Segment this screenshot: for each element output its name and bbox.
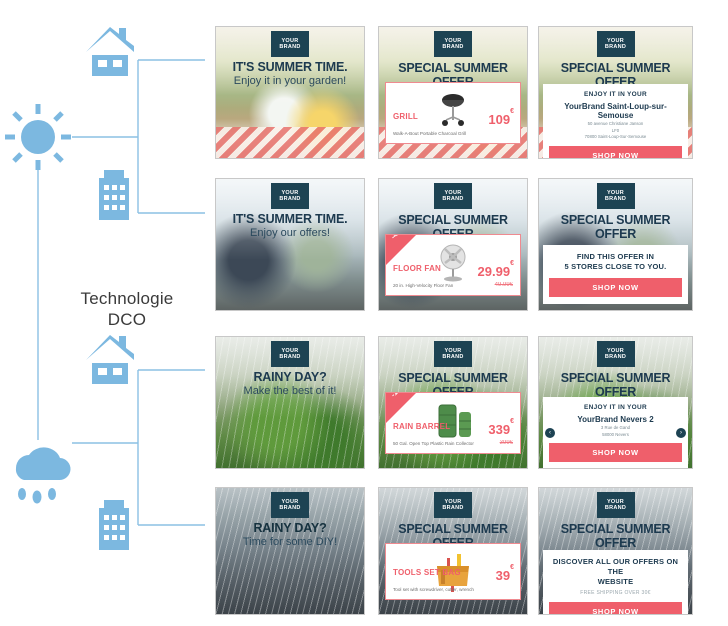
headline-line1: IT'S SUMMER TIME. [216,212,364,226]
brand-logo: YOURBRAND [434,183,472,209]
banner-grid: YOURBRAND IT'S SUMMER TIME. Enjoy it in … [215,0,728,626]
website-line2: WEBSITE [549,577,682,587]
headline-line2: Enjoy our offers! [216,227,364,239]
product-name: FLOOR FAN [393,264,441,273]
currency-symbol: € [510,108,514,115]
carousel-next-icon[interactable]: › [676,428,686,438]
product-name: TOOLS SET BAG [393,568,461,577]
brand-logo: YOURBRAND [597,31,635,57]
headline-line2: Enjoy it in your garden! [216,75,364,87]
store-kicker: ENJOY IT IN YOUR [549,91,682,98]
product-card[interactable]: -40% FLOOR FAN 20 in. High-Velocity Floo… [385,234,521,296]
dco-label-line2: DCO [62,309,192,330]
banner-headline: RAINY DAY? Time for some DIY! [216,521,364,548]
headline-line1: RAINY DAY? [216,521,364,535]
stores-count-card: FIND THIS OFFER IN 5 STORES CLOSE TO YOU… [543,245,688,304]
banner-rainy-diy[interactable]: YOURBRAND RAINY DAY? Time for some DIY! [215,487,365,615]
stores-line2: 5 STORES CLOSE TO YOU. [549,262,682,272]
stores-line1: FIND THIS OFFER IN [549,252,682,262]
building-icon-sunny [99,170,129,220]
shop-now-button[interactable]: SHOP NOW [549,146,682,159]
brand-logo: YOURBRAND [434,341,472,367]
floor-fan-product-image [427,241,479,285]
store-name: YourBrand Nevers 2 [549,415,682,424]
house-icon-rainy [86,335,134,384]
product-price: 29.99€ [478,264,514,279]
building-icon-rainy [99,500,129,550]
banner-headline: RAINY DAY? Make the best of it! [216,370,364,397]
product-old-price: 49.99€ [495,282,513,288]
store-info-card: ‹ › ENJOY IT IN YOUR YourBrand Nevers 2 … [543,397,688,469]
website-line1: DISCOVER ALL OUR OFFERS ON THE [549,557,682,577]
shop-now-button[interactable]: SHOP NOW [549,443,682,462]
headline-line2: Make the best of it! [216,385,364,397]
banner-website-offers[interactable]: YOURBRAND SPECIAL SUMMER OFFER DISCOVER … [538,487,693,615]
rain-barrel-product-image [427,399,479,443]
store-kicker: ENJOY IT IN YOUR [549,404,682,411]
shop-now-button[interactable]: SHOP NOW [549,602,682,615]
banner-offer-tools-set-bag[interactable]: YOURBRAND SPECIAL SUMMER OFFER TOOLS SET… [378,487,528,615]
banner-stores-nearby[interactable]: YOURBRAND SPECIAL SUMMER OFFER FIND THIS… [538,178,693,311]
product-price: 339€ [488,422,514,437]
banner-row-rainy-house: YOURBRAND RAINY DAY? Make the best of it… [215,336,728,471]
house-icon-sunny [86,27,134,76]
brand-logo: YOURBRAND [597,492,635,518]
store-info-card: ENJOY IT IN YOUR YourBrand Saint-Loup-su… [543,84,688,159]
offer-title: SPECIAL SUMMER OFFER [539,522,692,550]
dco-diagram-page: Technologie DCO YOURBRAND IT'S SUMMER TI… [0,0,728,626]
store-address-line1: 3 Rue de Gand [549,425,682,431]
dco-label-line1: Technologie [62,288,192,309]
sun-icon [5,104,71,170]
brand-logo: YOURBRAND [434,492,472,518]
product-description: Tool set with screwdriver, cutter, wrenc… [393,587,485,593]
banner-offer-grill[interactable]: YOURBRAND SPECIAL SUMMER OFFER GRILL Wal… [378,26,528,159]
banner-store-nevers[interactable]: YOURBRAND SPECIAL SUMMER OFFER ‹ › ENJOY… [538,336,693,469]
headline-line2: Time for some DIY! [216,536,364,548]
product-name: RAIN BARREL [393,422,450,431]
brand-logo: YOURBRAND [271,183,309,209]
product-description: 50 Gal. Open Top Plastic Rain Collector [393,441,485,447]
dco-technology-label: Technologie DCO [62,288,192,331]
banner-row-sunny-building: YOURBRAND IT'S SUMMER TIME. Enjoy our of… [215,178,728,313]
shop-now-button[interactable]: SHOP NOW [549,278,682,297]
brand-logo: YOURBRAND [271,341,309,367]
store-address-line2: LF0 [549,128,682,134]
currency-symbol: € [510,418,514,425]
currency-symbol: € [510,564,514,571]
banner-offer-rain-barrel[interactable]: YOURBRAND SPECIAL SUMMER OFFER -15% [378,336,528,469]
website-promo-card: DISCOVER ALL OUR OFFERS ON THE WEBSITE F… [543,550,688,615]
brand-logo: YOURBRAND [271,492,309,518]
product-name: GRILL [393,112,418,121]
banner-headline: IT'S SUMMER TIME. Enjoy our offers! [216,212,364,239]
banner-headline: IT'S SUMMER TIME. Enjoy it in your garde… [216,60,364,87]
currency-symbol: € [510,260,514,267]
banner-summer-garden[interactable]: YOURBRAND IT'S SUMMER TIME. Enjoy it in … [215,26,365,159]
brand-logo: YOURBRAND [597,341,635,367]
product-price: 39€ [496,568,514,583]
product-card[interactable]: GRILL Walk-A-Bout Portable Charcoal Gril… [385,82,521,144]
store-address-line1: 50 avenue Christiane Janson [549,121,682,127]
product-description: 20 in. High-Velocity Floor Fan [393,283,485,289]
banner-row-sunny-house: YOURBRAND IT'S SUMMER TIME. Enjoy it in … [215,26,728,161]
rain-cloud-icon [16,447,71,503]
brand-logo: YOURBRAND [271,31,309,57]
store-address-line2: 58000 Nevers [549,432,682,438]
store-name: YourBrand Saint-Loup-sur-Semouse [549,102,682,120]
banner-offer-floor-fan[interactable]: YOURBRAND SPECIAL SUMMER OFFER -40% FLOO… [378,178,528,311]
offer-title: SPECIAL SUMMER OFFER [539,371,692,399]
headline-line1: IT'S SUMMER TIME. [216,60,364,74]
product-card[interactable]: -15% RAIN BARREL 50 Gal. Open Top Plasti… [385,392,521,454]
product-card[interactable]: TOOLS SET BAG Tool set with screwdriver,… [385,543,521,600]
free-shipping-note: FREE SHIPPING OVER 30€ [549,590,682,596]
headline-line1: RAINY DAY? [216,370,364,384]
product-old-price: 399€ [500,440,513,446]
product-description: Walk-A-Bout Portable Charcoal Grill [393,131,485,137]
product-price: 109€ [488,112,514,127]
banner-rainy-garden[interactable]: YOURBRAND RAINY DAY? Make the best of it… [215,336,365,469]
banner-store-saint-loup[interactable]: YOURBRAND SPECIAL SUMMER OFFER ENJOY IT … [538,26,693,159]
brand-logo-line2: BRAND [279,44,300,50]
banner-row-rainy-building: YOURBRAND RAINY DAY? Time for some DIY! … [215,487,728,622]
banner-summer-balcony[interactable]: YOURBRAND IT'S SUMMER TIME. Enjoy our of… [215,178,365,311]
offer-title: SPECIAL SUMMER OFFER [539,213,692,241]
brand-logo: YOURBRAND [597,183,635,209]
grill-product-image [427,89,479,133]
brand-logo: YOURBRAND [434,31,472,57]
store-address-line3: 70800 Saint-Loup-Sur-Semouse [549,134,682,140]
